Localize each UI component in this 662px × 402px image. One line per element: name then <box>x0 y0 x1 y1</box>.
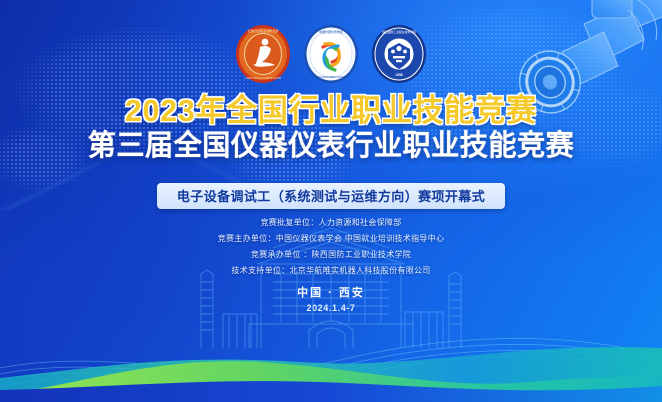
page-subtitle: 第三届全国仪器仪表行业职业技能竞赛 <box>10 131 652 162</box>
svg-text:中国仪器仪表学会: 中国仪器仪表学会 <box>319 29 342 34</box>
national-vocational-skills-competition-emblem-icon: 全国行业职业技能竞赛 CHINA SKILLS COMPETITION <box>233 23 293 85</box>
logo-china-instrument-and-control-society: 中国仪器仪表学会 CHINA INSTRUMENT SOCIETY <box>301 23 361 85</box>
svg-text:CHINA SKILLS COMPETITION: CHINA SKILLS COMPETITION <box>245 76 281 80</box>
event-pill-container: 电子设备调试工（系统测试与运维方向）赛项开幕式 <box>0 183 662 209</box>
page-title: 2023年全国行业职业技能竞赛 <box>10 94 652 127</box>
event-name-badge: 电子设备调试工（系统测试与运维方向）赛项开幕式 <box>157 183 505 209</box>
china-instrument-and-control-society-emblem-icon: 中国仪器仪表学会 CHINA INSTRUMENT SOCIETY <box>301 23 361 85</box>
shaanxi-defence-vocational-college-emblem-icon: 陕西国防工业职业技术学院 1958 <box>369 23 429 85</box>
svg-text:全国行业职业技能竞赛: 全国行业职业技能竞赛 <box>248 28 279 33</box>
svg-text:陕西国防工业职业技术学院: 陕西国防工业职业技术学院 <box>382 30 416 34</box>
conference-poster: 全国行业职业技能竞赛 CHINA SKILLS COMPETITION 中 <box>0 0 662 402</box>
logo-national-vocational-skills-competition: 全国行业职业技能竞赛 CHINA SKILLS COMPETITION <box>233 23 293 85</box>
organizer-logo-row: 全国行业职业技能竞赛 CHINA SKILLS COMPETITION 中 <box>0 23 662 85</box>
bottom-wave-decoration <box>0 282 662 402</box>
logo-shaanxi-defence-vocational-college: 陕西国防工业职业技术学院 1958 <box>369 23 429 85</box>
svg-text:CHINA INSTRUMENT SOCIETY: CHINA INSTRUMENT SOCIETY <box>314 76 348 79</box>
poster-titles: 2023年全国行业职业技能竞赛 第三届全国仪器仪表行业职业技能竞赛 <box>0 94 662 163</box>
svg-text:1958: 1958 <box>395 73 402 77</box>
